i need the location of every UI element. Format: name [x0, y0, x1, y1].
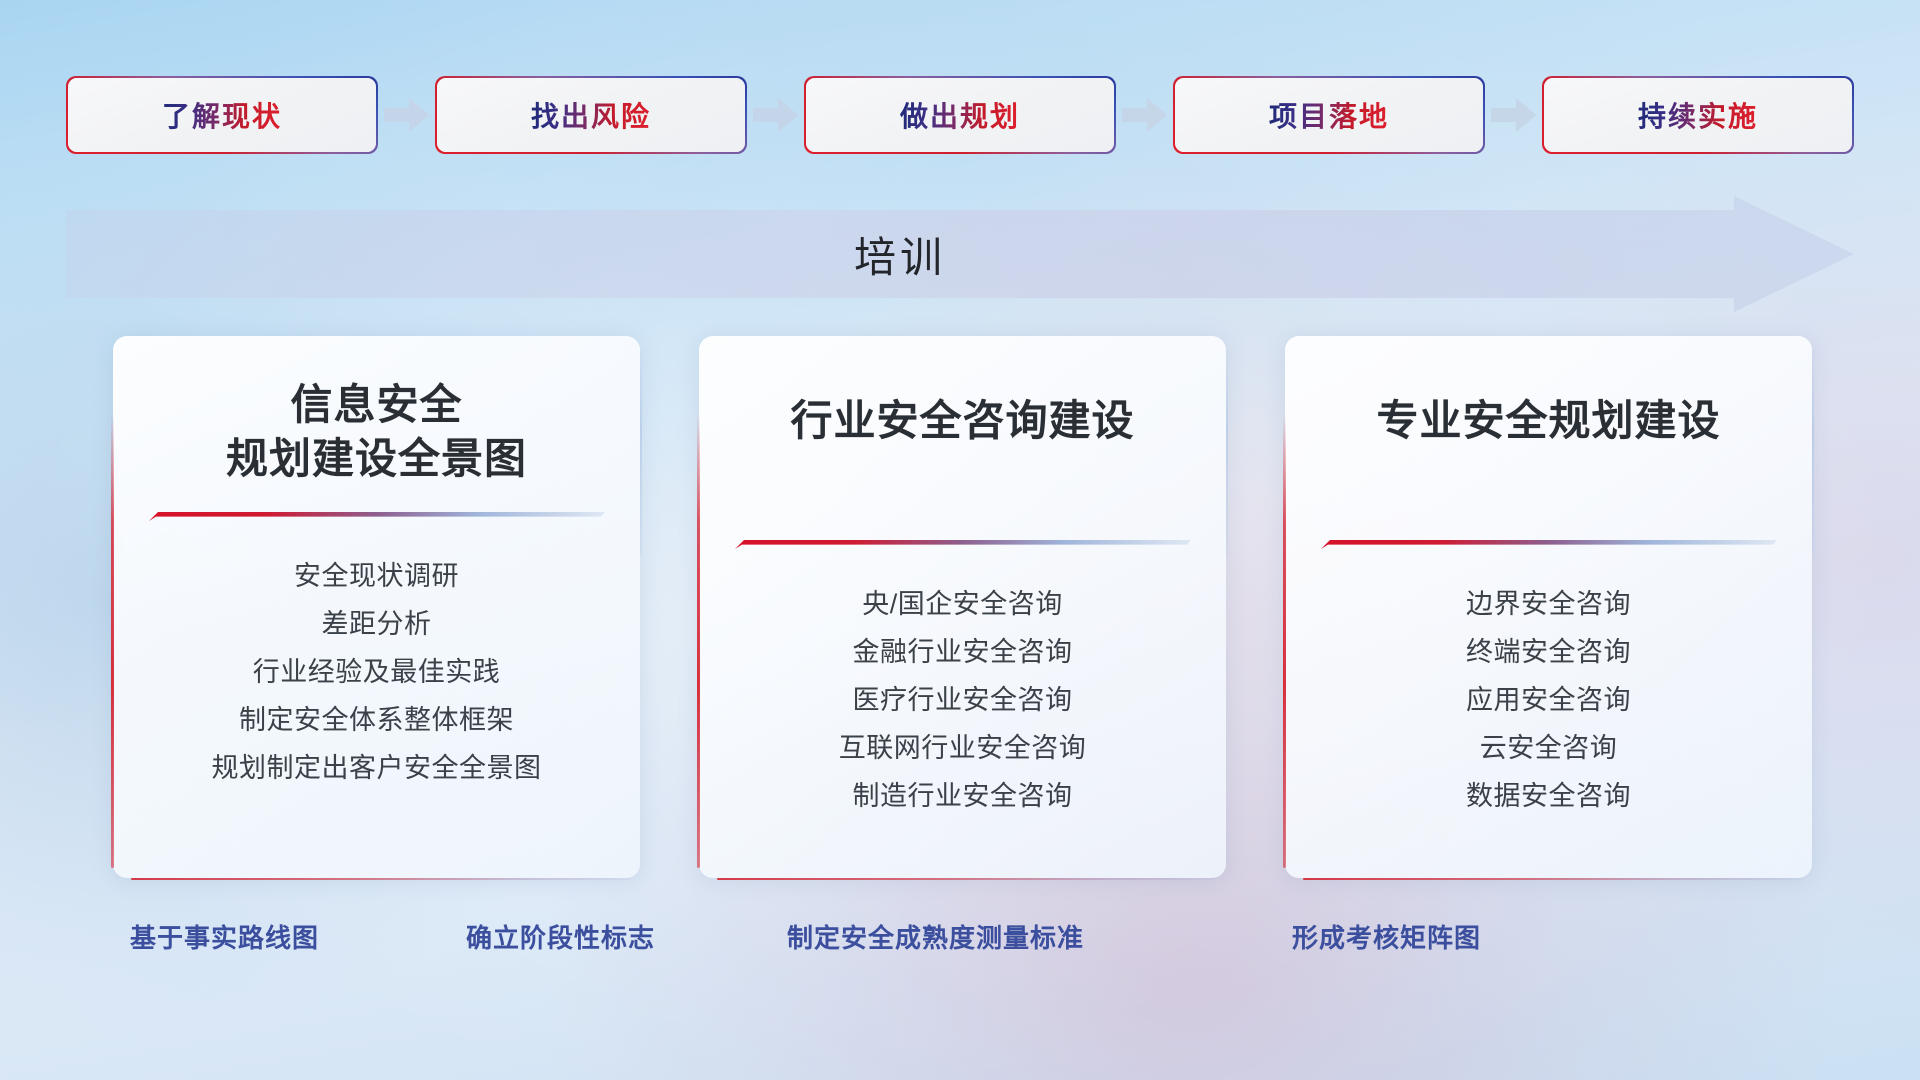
- arrow-right-icon: [1491, 97, 1537, 133]
- card-divider-2: [735, 540, 1191, 551]
- list-item: 制定安全体系整体框架: [139, 697, 614, 745]
- list-item: 行业经验及最佳实践: [139, 649, 614, 697]
- card-accent-left: [1283, 414, 1286, 868]
- card-accent-bottom: [717, 878, 1216, 881]
- step-box-4[interactable]: 项目落地: [1175, 78, 1483, 152]
- step-label-2: 找出风险: [531, 95, 651, 135]
- list-item: 央/国企安全咨询: [725, 581, 1200, 629]
- list-item: 云安全咨询: [1311, 725, 1786, 773]
- step-label-1: 了解现状: [162, 95, 282, 135]
- gradient-divider-icon: [149, 512, 605, 523]
- arrow-right-icon: [384, 97, 430, 133]
- service-card-2[interactable]: 行业安全咨询建设 央/国企安全咨询: [699, 336, 1226, 878]
- list-item: 数据安全咨询: [1311, 773, 1786, 821]
- list-item: 安全现状调研: [139, 553, 614, 601]
- card-item-list-2: 央/国企安全咨询 金融行业安全咨询 医疗行业安全咨询 互联网行业安全咨询 制造行…: [725, 581, 1200, 821]
- step-arrow-1: [376, 97, 437, 133]
- list-item: 差距分析: [139, 601, 614, 649]
- card-accent-bottom: [131, 878, 630, 881]
- step-arrow-4: [1483, 97, 1544, 133]
- list-item: 边界安全咨询: [1311, 581, 1786, 629]
- card-title-1: 信息安全 规划建设全景图: [226, 378, 527, 486]
- arrow-right-icon: [753, 97, 799, 133]
- list-item: 金融行业安全咨询: [725, 629, 1200, 677]
- card-accent-right: [640, 346, 642, 556]
- process-step-row: 了解现状 找出风险 做出规划 项目落地: [68, 78, 1852, 152]
- step-box-2[interactable]: 找出风险: [437, 78, 745, 152]
- step-box-5[interactable]: 持续实施: [1544, 78, 1852, 152]
- step-box-3[interactable]: 做出规划: [806, 78, 1114, 152]
- card-title-3: 专业安全规划建设: [1376, 394, 1720, 448]
- caption-2: 确立阶段性标志: [466, 918, 655, 955]
- card-accent-bottom: [1303, 878, 1802, 881]
- service-card-1[interactable]: 信息安全 规划建设全景图 安全现状: [113, 336, 640, 878]
- service-card-row: 信息安全 规划建设全景图 安全现状: [113, 336, 1813, 878]
- step-label-4: 项目落地: [1269, 95, 1389, 135]
- card-accent-left: [111, 414, 114, 868]
- caption-1: 基于事实路线图: [130, 918, 319, 955]
- card-accent-right: [1812, 346, 1814, 556]
- card-title-2: 行业安全咨询建设: [790, 394, 1134, 448]
- slide-canvas: 了解现状 找出风险 做出规划 项目落地: [0, 0, 1920, 1080]
- step-label-3: 做出规划: [900, 95, 1020, 135]
- gradient-divider-icon: [1321, 540, 1777, 551]
- card-item-list-1: 安全现状调研 差距分析 行业经验及最佳实践 制定安全体系整体框架 规划制定出客户…: [139, 553, 614, 793]
- card-accent-left: [697, 414, 700, 868]
- card-divider-1: [149, 512, 605, 523]
- list-item: 应用安全咨询: [1311, 677, 1786, 725]
- banner-label: 培训: [66, 196, 1734, 312]
- list-item: 医疗行业安全咨询: [725, 677, 1200, 725]
- list-item: 互联网行业安全咨询: [725, 725, 1200, 773]
- gradient-divider-icon: [735, 540, 1191, 551]
- caption-4: 形成考核矩阵图: [1292, 918, 1481, 955]
- arrow-right-icon: [1122, 97, 1168, 133]
- caption-3: 制定安全成熟度测量标准: [787, 918, 1084, 955]
- step-arrow-2: [745, 97, 806, 133]
- step-box-1[interactable]: 了解现状: [68, 78, 376, 152]
- list-item: 规划制定出客户安全全景图: [139, 745, 614, 793]
- card-divider-3: [1321, 540, 1777, 551]
- caption-row: 基于事实路线图 确立阶段性标志 制定安全成熟度测量标准 形成考核矩阵图: [0, 918, 1920, 962]
- list-item: 制造行业安全咨询: [725, 773, 1200, 821]
- list-item: 终端安全咨询: [1311, 629, 1786, 677]
- card-item-list-3: 边界安全咨询 终端安全咨询 应用安全咨询 云安全咨询 数据安全咨询: [1311, 581, 1786, 821]
- step-arrow-3: [1114, 97, 1175, 133]
- service-card-3[interactable]: 专业安全规划建设 边界安全咨询: [1285, 336, 1812, 878]
- step-label-5: 持续实施: [1638, 95, 1758, 135]
- training-banner: 培训: [66, 196, 1854, 312]
- card-accent-right: [1226, 346, 1228, 556]
